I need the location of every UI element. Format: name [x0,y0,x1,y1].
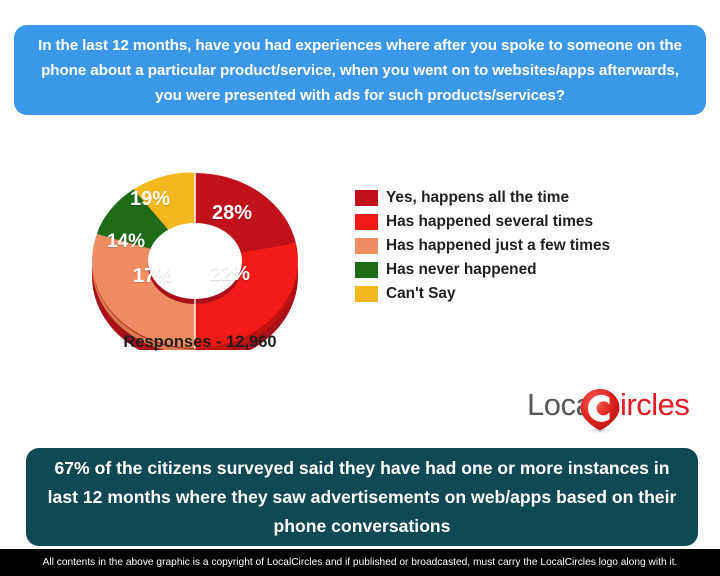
localcircles-logo-svg: Local ircles [527,383,702,435]
legend-item-never-happened: Has never happened [355,258,610,282]
donut-graphic: 28% 22% 17% 14% 19% [85,165,315,350]
legend-label: Has happened several times [386,213,593,231]
logo-text-ircles: ircles [620,387,689,422]
infographic-canvas: In the last 12 months, have you had expe… [0,0,720,576]
legend-item-yes-all-the-time: Yes, happens all the time [355,186,610,210]
donut-svg [85,165,315,350]
insight-banner: 67% of the citizens surveyed said they h… [26,448,698,546]
copyright-text: All contents in the above graphic is a c… [43,557,678,568]
legend-label: Can't Say [386,285,456,303]
legend-label: Has happened just a few times [386,237,610,255]
legend-label: Has never happened [386,261,537,279]
donut-hole [148,223,242,299]
legend-swatch-icon [355,238,378,254]
legend-item-several-times: Has happened several times [355,210,610,234]
legend-item-few-times: Has happened just a few times [355,234,610,258]
question-text: In the last 12 months, have you had expe… [28,33,692,108]
legend-swatch-icon [355,190,378,206]
responses-count-label: Responses - 12,960 [85,333,315,352]
insight-text: 67% of the citizens surveyed said they h… [46,454,678,541]
question-banner: In the last 12 months, have you had expe… [14,25,706,115]
legend-swatch-icon [355,286,378,302]
donut-chart: 28% 22% 17% 14% 19% Responses - 12,960 [85,165,315,365]
legend-label: Yes, happens all the time [386,189,569,207]
legend-swatch-icon [355,262,378,278]
legend-item-cant-say: Can't Say [355,282,610,306]
legend-swatch-icon [355,214,378,230]
map-pin-icon [581,389,620,435]
chart-legend: Yes, happens all the time Has happened s… [355,186,610,306]
copyright-footer: All contents in the above graphic is a c… [0,549,720,576]
localcircles-logo: Local ircles [527,383,702,435]
